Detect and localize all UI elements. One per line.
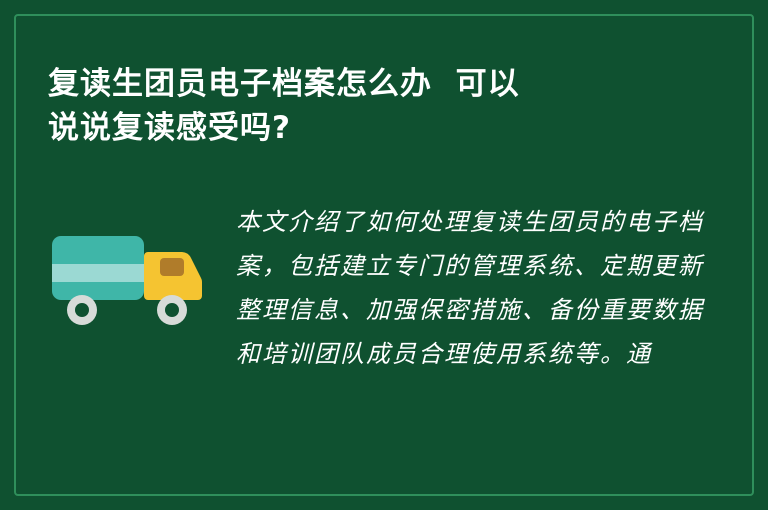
poster-card: 复读生团员电子档案怎么办 可以 说说复读感受吗? 本文介绍了如何处理复读生团员的… (0, 0, 768, 510)
title-line-1: 复读生团员电子档案怎么办 可以 (48, 62, 688, 106)
truck-illustration-wrapper (48, 200, 224, 352)
page-title: 复读生团员电子档案怎么办 可以 说说复读感受吗? (48, 62, 688, 150)
content-row: 本文介绍了如何处理复读生团员的电子档案，包括建立专门的管理系统、定期更新整理信息… (48, 200, 720, 376)
delivery-truck-icon (48, 218, 224, 348)
title-line-2: 说说复读感受吗? (48, 106, 688, 150)
body-paragraph: 本文介绍了如何处理复读生团员的电子档案，包括建立专门的管理系统、定期更新整理信息… (236, 200, 720, 376)
